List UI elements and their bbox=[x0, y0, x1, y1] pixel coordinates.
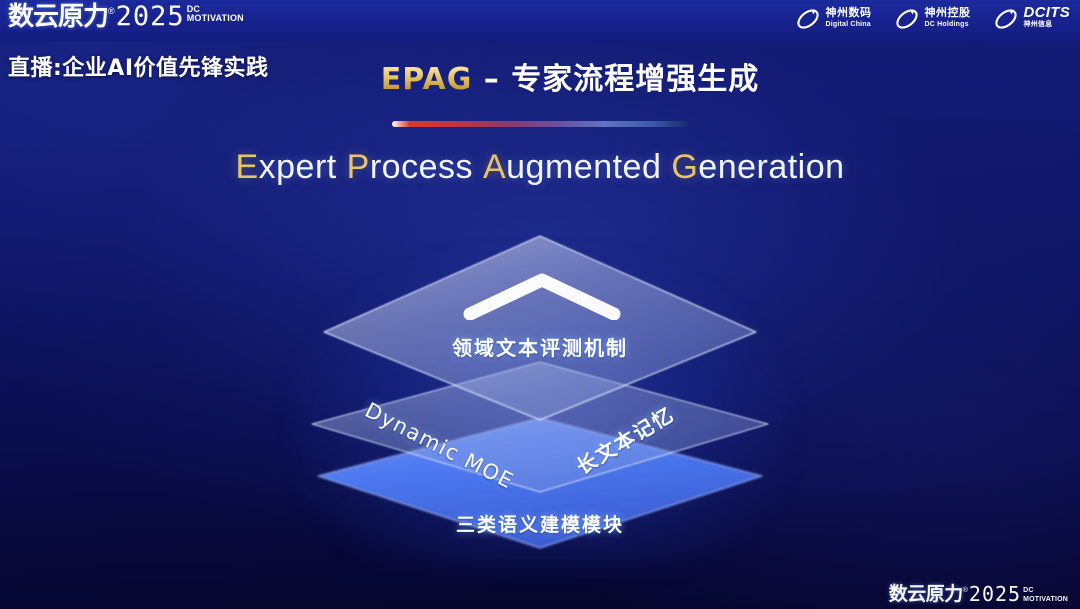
slide-canvas: 数云原力 ® 2025 DC MOTIVATION 神州数码 Digital C… bbox=[0, 0, 1080, 609]
partner-name-cn: 神州数码 bbox=[826, 8, 872, 18]
watermark-registered-mark: ® bbox=[963, 584, 968, 595]
swirl-icon bbox=[993, 6, 1019, 32]
subtitle-space-2 bbox=[473, 148, 483, 186]
subtitle-space-3 bbox=[661, 148, 671, 186]
page-title: EPAG – 专家流程增强生成 bbox=[0, 54, 1080, 98]
subtitle-rest-process: rocess bbox=[370, 148, 473, 186]
brand-name-cn: 数云原力 bbox=[8, 3, 108, 31]
partner-name-en: Digital China bbox=[826, 20, 872, 30]
footer-watermark-logo: 数云原力 ® 2025 DC MOTIVATION bbox=[889, 584, 1068, 605]
partner-logo-dc-holdings: 神州控股 DC Holdings bbox=[894, 6, 971, 32]
title-divider bbox=[392, 121, 688, 127]
page-subtitle: Expert Process Augmented Generation bbox=[0, 148, 1080, 187]
chevron-up-icon bbox=[462, 272, 622, 320]
partner-logos: 神州数码 Digital China 神州控股 DC Holdings DCIT… bbox=[795, 6, 1071, 32]
brand-dc-line2: MOTIVATION bbox=[187, 14, 244, 23]
subtitle-cap-e: E bbox=[235, 148, 258, 186]
partner-name-en: DC Holdings bbox=[925, 20, 971, 30]
watermark-dc-line2: MOTIVATION bbox=[1023, 595, 1068, 604]
watermark-dc-line1: DC bbox=[1023, 586, 1068, 595]
partner-name-en: DCITS bbox=[1024, 8, 1071, 18]
partner-text-dcits: DCITS 神州信息 bbox=[1024, 8, 1071, 30]
brand-logo: 数云原力 ® 2025 DC MOTIVATION bbox=[8, 3, 244, 31]
partner-text-digital-china: 神州数码 Digital China bbox=[826, 8, 872, 30]
subtitle-cap-g: G bbox=[671, 148, 698, 186]
subtitle-rest-generation: eneration bbox=[698, 148, 844, 186]
brand-dc-motivation: DC MOTIVATION bbox=[187, 3, 244, 23]
page-title-acronym: EPAG bbox=[381, 62, 473, 97]
subtitle-space-1 bbox=[337, 148, 347, 186]
partner-logo-digital-china: 神州数码 Digital China bbox=[795, 6, 872, 32]
watermark-name-cn: 数云原力 bbox=[889, 584, 963, 605]
page-title-rest: – 专家流程增强生成 bbox=[472, 62, 759, 97]
diagram-label-dynamic-moe: Dynamic MOE bbox=[361, 398, 518, 494]
partner-logo-dcits: DCITS 神州信息 bbox=[993, 6, 1071, 32]
subtitle-rest-augmented: ugmented bbox=[506, 148, 661, 186]
watermark-year: 2025 bbox=[969, 584, 1021, 605]
swirl-icon bbox=[795, 6, 821, 32]
partner-text-dc-holdings: 神州控股 DC Holdings bbox=[925, 8, 971, 30]
partner-name-cn: 神州信息 bbox=[1024, 20, 1071, 30]
subtitle-rest-expert: xpert bbox=[259, 148, 337, 186]
subtitle-cap-p: P bbox=[347, 148, 370, 186]
brand-registered-mark: ® bbox=[108, 3, 115, 17]
subtitle-cap-a: A bbox=[483, 148, 506, 186]
swirl-icon bbox=[894, 6, 920, 32]
partner-name-cn: 神州控股 bbox=[925, 8, 971, 18]
diagram-label-domain-text-eval: 领域文本评测机制 bbox=[0, 332, 1080, 361]
watermark-dc-motivation: DC MOTIVATION bbox=[1023, 584, 1068, 604]
brand-year: 2025 bbox=[116, 3, 185, 31]
diagram-label-long-text-memory: 长文本记忆 bbox=[570, 398, 679, 480]
diagram-glow bbox=[290, 250, 790, 570]
diagram-label-semantic-modules: 三类语义建模模块 bbox=[0, 510, 1080, 537]
